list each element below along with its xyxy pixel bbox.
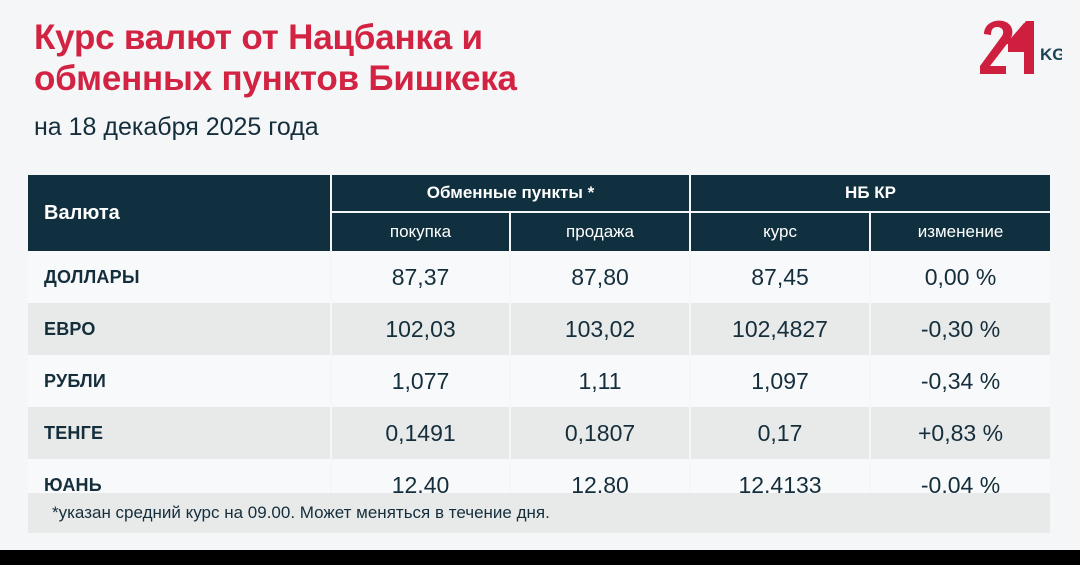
cell-currency-name: РУБЛИ	[28, 355, 331, 407]
cell-currency-name: ДОЛЛАРЫ	[28, 251, 331, 303]
bottom-black-bar	[0, 550, 1080, 565]
cell-sell: 87,80	[510, 251, 690, 303]
rates-table-container: Валюта Обменные пункты * НБ КР покупка п…	[28, 175, 1050, 511]
table-group-header-row: Валюта Обменные пункты * НБ КР	[28, 175, 1050, 212]
page-title: Курс валют от Нацбанка и обменных пункто…	[34, 18, 934, 100]
cell-sell: 0,1807	[510, 407, 690, 459]
table-body: ДОЛЛАРЫ 87,37 87,80 87,45 0,00 % ЕВРО 10…	[28, 251, 1050, 511]
cell-rate: 102,4827	[690, 303, 870, 355]
cell-buy: 1,077	[331, 355, 510, 407]
table-head: Валюта Обменные пункты * НБ КР покупка п…	[28, 175, 1050, 251]
cell-change: -0,34 %	[870, 355, 1050, 407]
column-header-change: изменение	[870, 212, 1050, 251]
table-row: ДОЛЛАРЫ 87,37 87,80 87,45 0,00 %	[28, 251, 1050, 303]
cell-rate: 0,17	[690, 407, 870, 459]
cell-sell: 103,02	[510, 303, 690, 355]
column-header-buy: покупка	[331, 212, 510, 251]
cell-currency-name: ЕВРО	[28, 303, 331, 355]
brand-logo-24kg: KG	[976, 16, 1062, 80]
table-row: ТЕНГЕ 0,1491 0,1807 0,17 +0,83 %	[28, 407, 1050, 459]
cell-buy: 87,37	[331, 251, 510, 303]
currency-rates-table: Валюта Обменные пункты * НБ КР покупка п…	[28, 175, 1050, 511]
page-header: Курс валют от Нацбанка и обменных пункто…	[34, 18, 934, 141]
table-row: ЕВРО 102,03 103,02 102,4827 -0,30 %	[28, 303, 1050, 355]
column-group-header-nbkr: НБ КР	[690, 175, 1050, 212]
cell-buy: 0,1491	[331, 407, 510, 459]
cell-sell: 1,11	[510, 355, 690, 407]
cell-rate: 1,097	[690, 355, 870, 407]
cell-buy: 102,03	[331, 303, 510, 355]
column-header-currency: Валюта	[28, 175, 331, 251]
cell-change: -0,30 %	[870, 303, 1050, 355]
logo-24kg-icon: KG	[976, 16, 1062, 80]
cell-change: 0,00 %	[870, 251, 1050, 303]
column-header-rate: курс	[690, 212, 870, 251]
cell-change: +0,83 %	[870, 407, 1050, 459]
column-header-sell: продажа	[510, 212, 690, 251]
column-group-header-exchange-points: Обменные пункты *	[331, 175, 690, 212]
svg-text:KG: KG	[1040, 45, 1062, 64]
cell-rate: 87,45	[690, 251, 870, 303]
cell-currency-name: ТЕНГЕ	[28, 407, 331, 459]
page-subtitle-date: на 18 декабря 2025 года	[34, 114, 934, 142]
table-row: РУБЛИ 1,077 1,11 1,097 -0,34 %	[28, 355, 1050, 407]
table-footnote: *указан средний курс на 09.00. Может мен…	[28, 493, 1050, 533]
infographic-page: Курс валют от Нацбанка и обменных пункто…	[0, 0, 1080, 565]
